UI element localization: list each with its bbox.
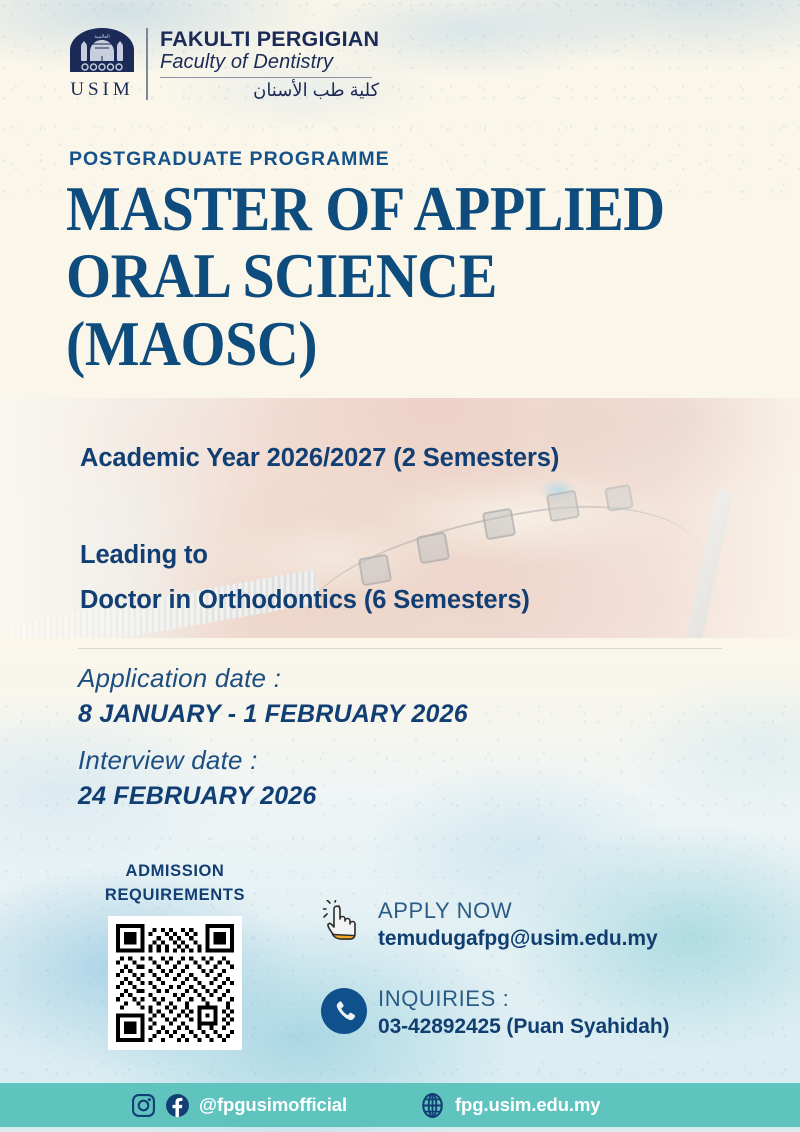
admission-title: ADMISSION REQUIREMENTS — [96, 860, 254, 908]
faculty-name-english: Faculty of Dentistry — [160, 51, 379, 73]
apply-now-icon-wrap — [318, 898, 370, 944]
faculty-name-malay: FAKULTI PERGIGIAN — [160, 28, 379, 51]
inquiries-phone[interactable]: 03-42892425 (Puan Syahidah) — [378, 1013, 669, 1040]
globe-icon[interactable] — [419, 1092, 446, 1119]
qr-code-container[interactable] — [108, 916, 242, 1050]
admission-title-line2: REQUIREMENTS — [96, 884, 254, 908]
title-line: MASTER OF APPLIED — [66, 176, 710, 243]
usim-wordmark: USIM — [70, 79, 134, 101]
interview-date-value: 24 FEBRUARY 2026 — [78, 779, 468, 815]
page-title: MASTER OF APPLIED ORAL SCIENCE (MAOSC) — [66, 176, 710, 378]
apply-now-text: APPLY NOW temudugafpg@usim.edu.my — [370, 898, 658, 952]
academic-year-text: Academic Year 2026/2027 (2 Semesters) — [80, 444, 559, 473]
qr-code[interactable] — [116, 924, 234, 1042]
faculty-name-rule — [160, 77, 372, 79]
apply-now-block[interactable]: APPLY NOW temudugafpg@usim.edu.my — [318, 898, 658, 952]
poster-root: العالمية USIM FAKULTI PERGIGIAN Faculty … — [0, 0, 800, 1132]
title-line: (MAOSC) — [66, 311, 710, 378]
faculty-logo-lockup: العالمية USIM FAKULTI PERGIGIAN Faculty … — [68, 26, 379, 102]
svg-text:العالمية: العالمية — [94, 34, 109, 40]
apply-now-email[interactable]: temudugafpg@usim.edu.my — [378, 925, 658, 952]
social-handle[interactable]: @fpgusimofficial — [199, 1094, 347, 1116]
application-date-value: 8 JANUARY - 1 FEBRUARY 2026 — [78, 697, 468, 733]
logo-divider — [146, 28, 148, 100]
programme-kicker: POSTGRADUATE PROGRAMME — [69, 148, 390, 171]
inquiries-icon-wrap — [318, 986, 370, 1034]
interview-date-label: Interview date : — [78, 742, 468, 779]
leading-to-label: Leading to — [80, 533, 530, 578]
instagram-icon[interactable] — [131, 1093, 156, 1118]
application-date-label: Application date : — [78, 660, 468, 697]
admission-requirements-block: ADMISSION REQUIREMENTS — [96, 860, 254, 1050]
footer-bar: @fpgusimofficial fpg.usim.edu.my — [0, 1083, 800, 1127]
website-url[interactable]: fpg.usim.edu.my — [455, 1094, 601, 1116]
click-hand-cursor-icon — [323, 900, 365, 944]
inquiries-block[interactable]: INQUIRIES : 03-42892425 (Puan Syahidah) — [318, 986, 669, 1040]
title-line: ORAL SCIENCE — [66, 243, 710, 310]
phone-icon-circle — [321, 988, 367, 1034]
admission-title-line1: ADMISSION — [96, 860, 254, 884]
leading-to-value: Doctor in Orthodontics (6 Semesters) — [80, 578, 530, 623]
website-group[interactable]: fpg.usim.edu.my — [419, 1092, 601, 1119]
apply-now-label: APPLY NOW — [378, 898, 658, 925]
inquiries-label: INQUIRIES : — [378, 986, 669, 1013]
inquiries-text: INQUIRIES : 03-42892425 (Puan Syahidah) — [370, 986, 669, 1040]
social-media-group[interactable]: @fpgusimofficial — [131, 1093, 347, 1118]
usim-logo: العالمية USIM — [68, 26, 136, 101]
dates-divider — [78, 648, 722, 649]
usim-mosque-dome-logo: العالمية — [68, 26, 136, 78]
leading-to-block: Leading to Doctor in Orthodontics (6 Sem… — [80, 533, 530, 622]
dates-block: Application date : 8 JANUARY - 1 FEBRUAR… — [78, 660, 468, 815]
facebook-icon[interactable] — [165, 1093, 190, 1118]
faculty-name-arabic: كلية طب الأسنان — [160, 80, 379, 102]
phone-icon — [332, 999, 356, 1023]
faculty-name-block: FAKULTI PERGIGIAN Faculty of Dentistry ك… — [160, 26, 379, 102]
